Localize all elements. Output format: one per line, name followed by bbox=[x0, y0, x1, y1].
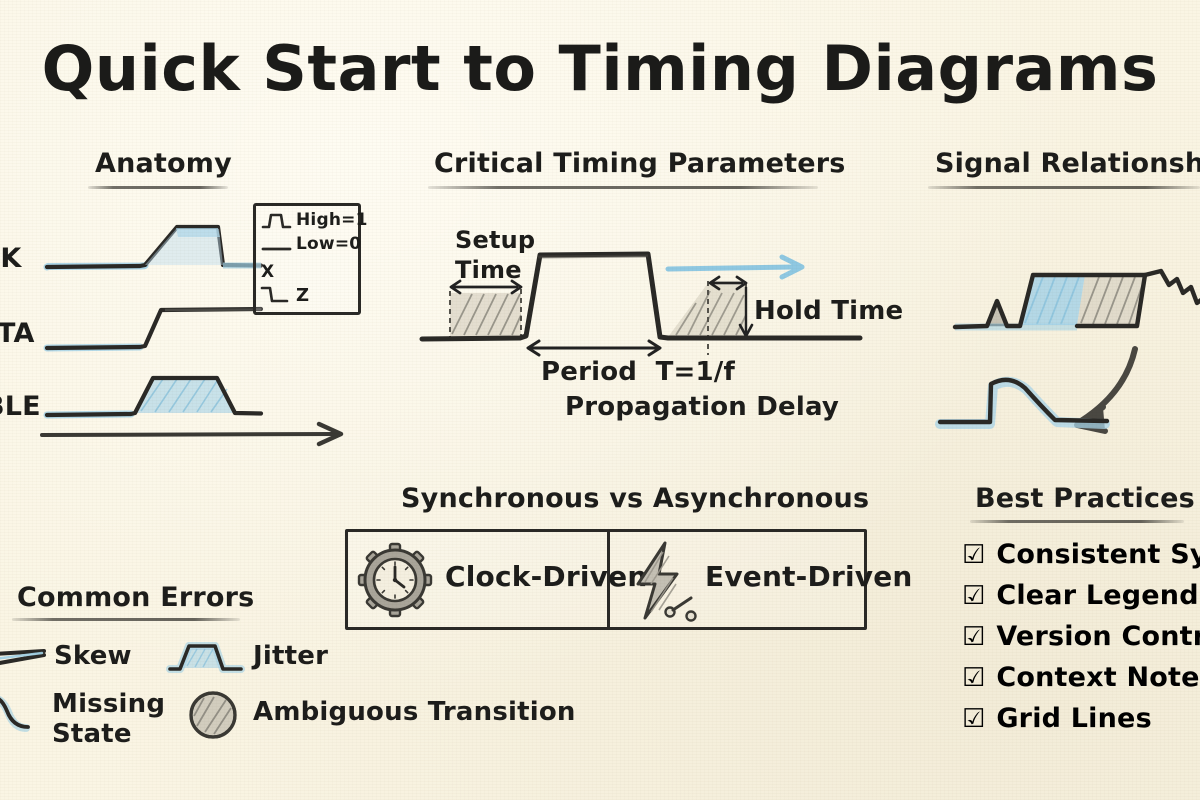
falling-edge-glyph bbox=[261, 286, 291, 306]
page-title: Quick Start to Timing Diagrams bbox=[42, 32, 1159, 105]
sync-option-label-event-driven[interactable]: Event-Driven bbox=[705, 560, 913, 593]
time-axis-arrow bbox=[40, 418, 360, 452]
infographic-canvas: Quick Start to Timing Diagrams Anatomy L… bbox=[0, 0, 1200, 800]
ambiguous-circle-icon bbox=[186, 688, 242, 744]
best-practice-label: Grid Lines bbox=[996, 703, 1152, 734]
list-item[interactable]: ☑ Grid Lines bbox=[962, 698, 1200, 739]
common-error-label-skew: Skew bbox=[54, 641, 132, 671]
timing-parameters-waveform bbox=[420, 215, 880, 385]
heading-underline-common-errors bbox=[12, 618, 240, 621]
waveform-clk bbox=[45, 215, 265, 285]
signal-relationship-upper-waveform bbox=[925, 245, 1200, 355]
best-practices-list: ☑ Consistent Symbols ☑ Clear Legends ☑ V… bbox=[962, 534, 1200, 739]
signal-label-clk: LK bbox=[0, 243, 22, 274]
legend-label-low: Low=0 bbox=[296, 234, 361, 254]
checkbox-checked-icon[interactable]: ☑ bbox=[962, 581, 984, 611]
section-heading-anatomy: Anatomy bbox=[95, 148, 232, 179]
checkbox-checked-icon[interactable]: ☑ bbox=[962, 704, 984, 734]
best-practice-label: Context Notes bbox=[996, 662, 1200, 693]
heading-underline-anatomy bbox=[88, 186, 228, 189]
flat-low-glyph bbox=[262, 240, 292, 256]
list-item[interactable]: ☑ Clear Legends bbox=[962, 575, 1200, 616]
heading-underline-signal-relationships bbox=[928, 186, 1200, 189]
x-state-glyph: X bbox=[261, 262, 274, 282]
best-practice-label: Version Control bbox=[996, 621, 1200, 652]
checkbox-checked-icon[interactable]: ☑ bbox=[962, 540, 984, 570]
heading-underline-best-practices bbox=[970, 520, 1184, 523]
list-item[interactable]: ☑ Version Control bbox=[962, 616, 1200, 657]
checkbox-checked-icon[interactable]: ☑ bbox=[962, 622, 984, 652]
section-heading-common-errors: Common Errors bbox=[17, 582, 254, 613]
heading-underline-critical-timing bbox=[428, 186, 818, 189]
signal-label-enable: BLE bbox=[0, 391, 41, 422]
section-heading-critical-timing: Critical Timing Parameters bbox=[434, 148, 846, 179]
jitter-pulse-icon bbox=[163, 636, 249, 678]
common-error-label-ambiguous-transition: Ambiguous Transition bbox=[253, 697, 576, 727]
legend-label-z: Z bbox=[296, 285, 309, 306]
common-error-label-missing-state: Missing State bbox=[52, 689, 165, 749]
signal-label-data: ATA bbox=[0, 318, 35, 349]
missing-state-icon bbox=[0, 686, 44, 738]
section-heading-signal-relationships: Signal Relationships bbox=[935, 148, 1200, 179]
best-practice-label: Consistent Symbols bbox=[996, 539, 1200, 570]
gear-clock-icon[interactable] bbox=[357, 542, 433, 618]
sync-option-label-clock-driven[interactable]: Clock-Driven bbox=[445, 560, 647, 593]
signal-relationship-lower-waveform bbox=[935, 368, 1145, 438]
section-heading-best-practices: Best Practices bbox=[975, 483, 1195, 514]
pulse-high-glyph bbox=[262, 212, 292, 230]
skew-lines-icon bbox=[0, 640, 54, 676]
legend-label-high: High=1 bbox=[296, 210, 368, 230]
label-propagation-delay: Propagation Delay bbox=[565, 392, 839, 422]
lightning-switch-icon[interactable] bbox=[625, 540, 705, 622]
section-heading-sync-async: Synchronous vs Asynchronous bbox=[401, 483, 869, 514]
waveform-data bbox=[45, 290, 265, 360]
best-practice-label: Clear Legends bbox=[996, 580, 1200, 611]
list-item[interactable]: ☑ Context Notes bbox=[962, 657, 1200, 698]
list-item[interactable]: ☑ Consistent Symbols bbox=[962, 534, 1200, 575]
common-error-label-jitter: Jitter bbox=[253, 641, 328, 671]
checkbox-checked-icon[interactable]: ☑ bbox=[962, 663, 984, 693]
